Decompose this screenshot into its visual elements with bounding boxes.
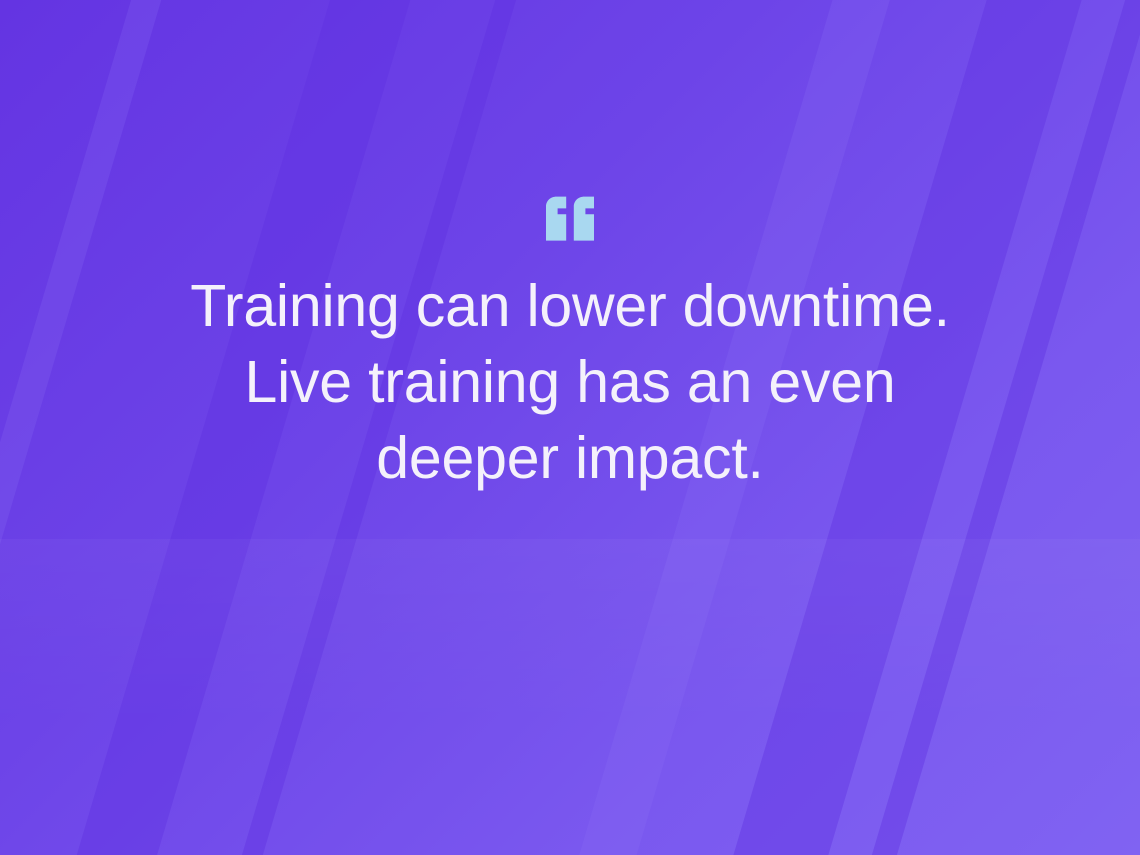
open-quotation-mark-icon: [542, 196, 598, 242]
quote-slide: Training can lower downtime. Live traini…: [0, 0, 1140, 855]
quote-text: Training can lower downtime. Live traini…: [120, 268, 1020, 496]
slide-content: Training can lower downtime. Live traini…: [0, 0, 1140, 855]
